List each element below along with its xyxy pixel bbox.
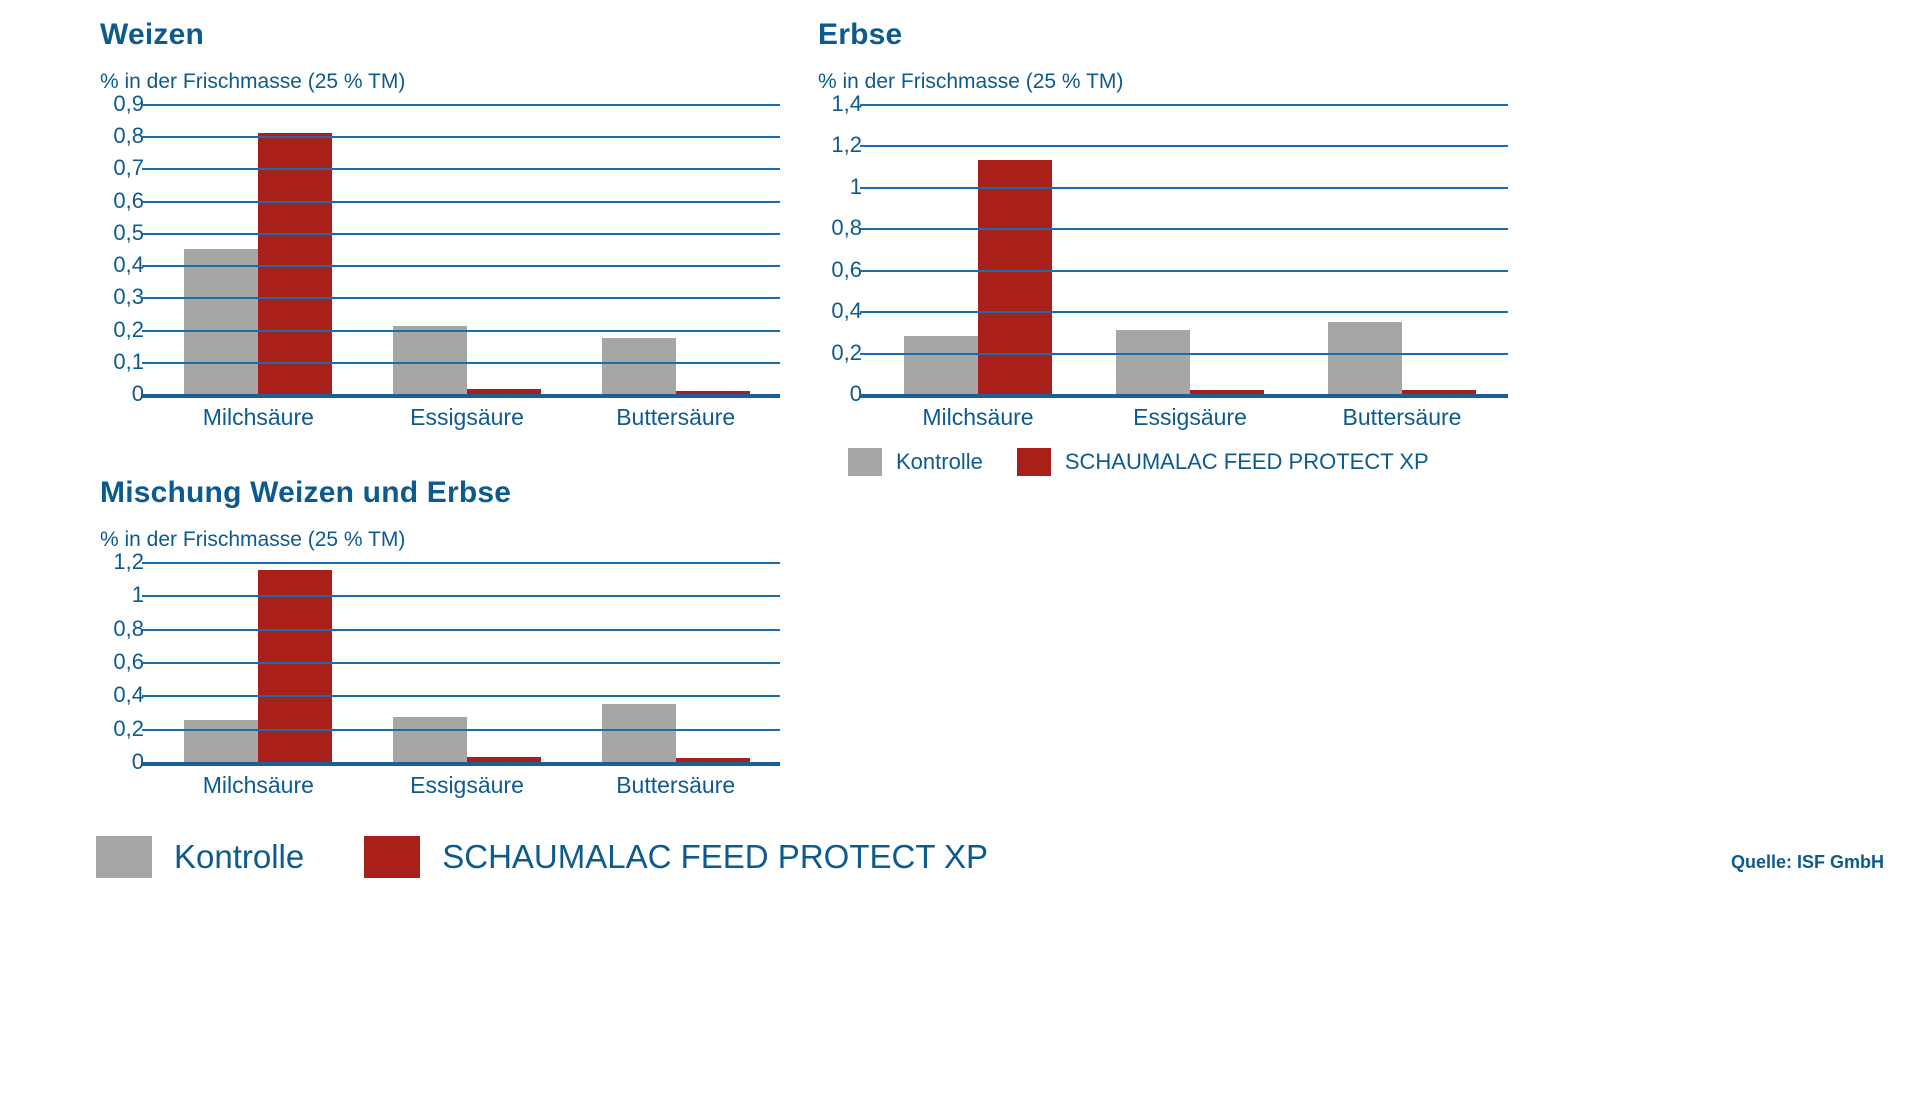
gridline — [154, 233, 780, 235]
y-tick-mark-icon — [860, 270, 872, 272]
y-tick-mark-icon — [860, 311, 872, 313]
x-tick-label: Buttersäure — [571, 772, 780, 799]
bar-kontrolle — [184, 249, 258, 394]
y-tick-mark-icon — [860, 145, 872, 147]
x-tick-label: Essigsäure — [363, 772, 572, 799]
y-tick-mark-icon — [142, 265, 154, 267]
x-tick-label: Milchsäure — [872, 404, 1084, 431]
y-tick-label: 0,8 — [113, 616, 144, 642]
source-note: Quelle: ISF GmbH — [1731, 852, 1884, 873]
legend-label-kontrolle: Kontrolle — [174, 838, 304, 876]
gridline — [154, 662, 780, 664]
y-tick-label: 1,2 — [113, 549, 144, 575]
gridline — [154, 104, 780, 106]
y-tick-mark-icon — [142, 168, 154, 170]
bar-group — [1084, 104, 1296, 394]
gridline — [154, 201, 780, 203]
axis-baseline — [860, 394, 1508, 398]
x-axis-labels-mischung: MilchsäureEssigsäureButtersäure — [100, 772, 780, 799]
axis-baseline — [142, 394, 780, 398]
legend-item-treatment: SCHAUMALAC FEED PROTECT XP — [364, 836, 988, 878]
gridline — [154, 362, 780, 364]
bar-kontrolle — [184, 720, 258, 763]
y-tick-label: 0,4 — [831, 298, 862, 324]
bar-treatment — [258, 570, 332, 762]
legend-swatch-treatment-icon — [1017, 448, 1051, 476]
y-tick-label: 0,6 — [831, 257, 862, 283]
plot-area-mischung — [154, 562, 780, 762]
y-tick-mark-icon — [142, 695, 154, 697]
y-tick-mark-icon — [142, 201, 154, 203]
bar-kontrolle — [393, 326, 467, 394]
legend-swatch-kontrolle-icon — [848, 448, 882, 476]
bar-group — [1296, 104, 1508, 394]
bar-kontrolle — [904, 336, 978, 394]
bar-kontrolle — [1328, 322, 1402, 395]
y-tick-mark-icon — [860, 353, 872, 355]
bar-group — [571, 104, 780, 394]
chart-title-weizen: Weizen — [100, 18, 780, 52]
legend-label-treatment: SCHAUMALAC FEED PROTECT XP — [442, 838, 988, 876]
plot-erbse: 00,20,40,60,811,21,4 MilchsäureEssigsäur… — [818, 104, 1508, 431]
y-tick-mark-icon — [142, 330, 154, 332]
bar-group — [154, 104, 363, 394]
bar-kontrolle — [1116, 330, 1190, 394]
y-tick-mark-icon — [142, 595, 154, 597]
y-axis-labels-erbse: 00,20,40,60,811,21,4 — [818, 104, 872, 394]
y-tick-mark-icon — [142, 629, 154, 631]
y-tick-label: 1,4 — [831, 91, 862, 117]
gridline — [872, 311, 1508, 313]
gridline — [872, 270, 1508, 272]
y-tick-mark-icon — [142, 362, 154, 364]
legend-swatch-kontrolle-icon — [96, 836, 152, 878]
bar-kontrolle — [602, 338, 676, 394]
bar-treatment — [258, 133, 332, 394]
x-tick-label: Essigsäure — [1084, 404, 1296, 431]
y-tick-mark-icon — [142, 729, 154, 731]
chart-panel-erbse: Erbse % in der Frischmasse (25 % TM) 00,… — [818, 18, 1508, 431]
chart-title-erbse: Erbse — [818, 18, 1508, 52]
chart-panel-mischung: Mischung Weizen und Erbse % in der Frisc… — [100, 476, 780, 799]
y-tick-mark-icon — [142, 562, 154, 564]
legend-erbse: Kontrolle SCHAUMALAC FEED PROTECT XP — [848, 448, 1429, 476]
y-tick-mark-icon — [860, 228, 872, 230]
y-tick-mark-icon — [142, 662, 154, 664]
y-tick-mark-icon — [142, 233, 154, 235]
plot-mischung: 00,20,40,60,811,2 MilchsäureEssigsäureBu… — [100, 562, 780, 799]
plot-weizen: 00,10,20,30,40,50,60,70,80,9 MilchsäureE… — [100, 104, 780, 431]
y-tick-mark-icon — [142, 297, 154, 299]
axis-caption-erbse: % in der Frischmasse (25 % TM) — [818, 70, 1508, 94]
legend-item-kontrolle: Kontrolle — [848, 448, 983, 476]
gridline — [154, 562, 780, 564]
y-axis-labels-weizen: 00,10,20,30,40,50,60,70,80,9 — [100, 104, 154, 394]
gridline — [154, 265, 780, 267]
chart-title-mischung: Mischung Weizen und Erbse — [100, 476, 780, 510]
bar-groups-weizen — [154, 104, 780, 394]
legend-item-kontrolle: Kontrolle — [96, 836, 304, 878]
y-tick-label: 0,8 — [113, 123, 144, 149]
chart-panel-weizen: Weizen % in der Frischmasse (25 % TM) 00… — [100, 18, 780, 431]
gridline — [872, 353, 1508, 355]
gridline — [872, 228, 1508, 230]
y-tick-mark-icon — [142, 104, 154, 106]
legend-swatch-treatment-icon — [364, 836, 420, 878]
y-tick-mark-icon — [860, 104, 872, 106]
gridline — [154, 695, 780, 697]
axis-caption-weizen: % in der Frischmasse (25 % TM) — [100, 70, 780, 94]
bar-groups-erbse — [872, 104, 1508, 394]
legend-label-kontrolle: Kontrolle — [896, 449, 983, 475]
y-tick-label: 1,2 — [831, 132, 862, 158]
legend-item-treatment: SCHAUMALAC FEED PROTECT XP — [1017, 448, 1429, 476]
gridline — [872, 104, 1508, 106]
x-tick-label: Milchsäure — [154, 404, 363, 431]
y-tick-label: 0,7 — [113, 155, 144, 181]
y-tick-label: 0,8 — [831, 215, 862, 241]
x-tick-label: Essigsäure — [363, 404, 572, 431]
y-tick-label: 0,5 — [113, 220, 144, 246]
gridline — [872, 187, 1508, 189]
gridline — [154, 729, 780, 731]
bar-kontrolle — [602, 704, 676, 762]
y-tick-label: 0,2 — [113, 716, 144, 742]
x-tick-label: Buttersäure — [1296, 404, 1508, 431]
gridline — [154, 297, 780, 299]
y-tick-label: 0,6 — [113, 649, 144, 675]
plot-area-erbse — [872, 104, 1508, 394]
x-axis-labels-weizen: MilchsäureEssigsäureButtersäure — [100, 404, 780, 431]
bar-group — [363, 104, 572, 394]
y-tick-label: 0,2 — [113, 317, 144, 343]
y-tick-label: 0,2 — [831, 340, 862, 366]
plot-area-weizen — [154, 104, 780, 394]
y-tick-label: 0,4 — [113, 252, 144, 278]
y-tick-mark-icon — [860, 187, 872, 189]
x-axis-labels-erbse: MilchsäureEssigsäureButtersäure — [818, 404, 1508, 431]
y-tick-label: 0,6 — [113, 188, 144, 214]
gridline — [154, 629, 780, 631]
gridline — [872, 145, 1508, 147]
y-tick-label: 0,3 — [113, 284, 144, 310]
gridline — [154, 330, 780, 332]
y-tick-mark-icon — [142, 136, 154, 138]
y-tick-label: 0,1 — [113, 349, 144, 375]
gridline — [154, 168, 780, 170]
legend-label-treatment: SCHAUMALAC FEED PROTECT XP — [1065, 449, 1429, 475]
y-tick-label: 0,9 — [113, 91, 144, 117]
axis-caption-mischung: % in der Frischmasse (25 % TM) — [100, 528, 780, 552]
y-tick-label: 0,4 — [113, 682, 144, 708]
bar-kontrolle — [393, 717, 467, 762]
gridline — [154, 136, 780, 138]
gridline — [154, 595, 780, 597]
bar-treatment — [978, 160, 1052, 394]
axis-baseline — [142, 762, 780, 766]
x-tick-label: Buttersäure — [571, 404, 780, 431]
bar-group — [872, 104, 1084, 394]
x-tick-label: Milchsäure — [154, 772, 363, 799]
legend-main: Kontrolle SCHAUMALAC FEED PROTECT XP — [96, 836, 988, 878]
